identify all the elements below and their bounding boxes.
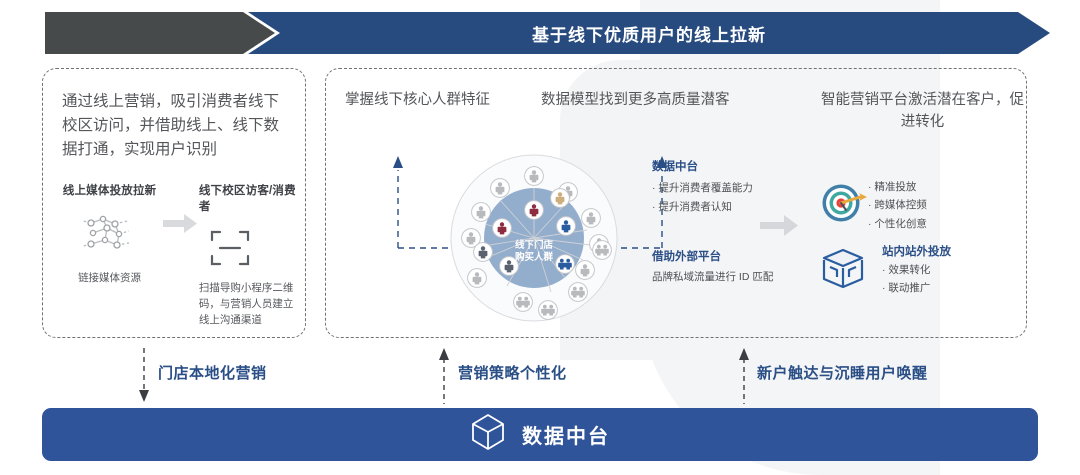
mid-block-external-platform-text: 品牌私域流量进行 ID 匹配: [652, 269, 787, 286]
people-center-label-line1: 线下门店: [515, 239, 554, 251]
bottom-bar-title: 数据中台: [522, 420, 610, 449]
list-item: 效果转化: [882, 261, 951, 279]
diagram-canvas: 基于线下优质用户的线上拉新 通过线上营销，吸引消费者线下校区访问，并借助线上、线…: [0, 0, 1080, 475]
mid-block-data-platform-title: 数据中台: [652, 158, 787, 174]
mid-block-data-platform-list: 提升消费者覆盖能力 提升消费者认知: [652, 179, 787, 218]
left-col-online: 线上媒体投放拉新: [58, 182, 161, 287]
banner-left-block: [45, 12, 275, 54]
up-arrow-icon: [736, 348, 752, 404]
list-item: 精准投放: [868, 178, 927, 196]
list-item: 跨媒体控频: [868, 196, 927, 214]
icon-row-onsite-title: 站内站外投放: [882, 243, 951, 259]
list-item: 提升消费者覆盖能力: [652, 179, 787, 198]
mid-block-external-platform: 借助外部平台 品牌私域流量进行 ID 匹配: [652, 248, 787, 286]
mid-block-data-platform: 数据中台 提升消费者覆盖能力 提升消费者认知: [652, 158, 787, 218]
left-col-offline-caption: 扫描导购小程序二维码，与营销人员建立线上沟通渠道: [199, 281, 298, 328]
left-col-online-heading: 线上媒体投放拉新: [58, 182, 161, 198]
people-network-circle-icon: 线下门店 购买人群: [447, 152, 622, 324]
target-bullseye-icon: [820, 181, 868, 230]
header-banner: 基于线下优质用户的线上拉新: [45, 12, 1050, 54]
mid-heading-1: 掌握线下核心人群特征: [345, 90, 530, 112]
left-panel-lead-text: 通过线上营销，吸引消费者线下校区访问，并借助线上、线下数据打通，实现用户识别: [62, 90, 290, 162]
banner-title: 基于线下优质用户的线上拉新: [248, 12, 1050, 54]
left-col-offline-heading: 线下校区访客/消费者: [199, 182, 298, 214]
people-center-label-line2: 购买人群: [515, 251, 554, 263]
left-col-online-caption: 链接媒体资源: [58, 271, 161, 287]
mid-heading-2: 数据模型找到更多高质量潜客: [541, 90, 741, 112]
mid-heading-3: 智能营销平台激活潜在客户，促进转化: [815, 90, 1030, 134]
open-box-cube-icon: [818, 245, 868, 296]
right-arrow-icon: [760, 223, 798, 240]
right-arrow-icon: [163, 214, 197, 233]
network-nodes-icon: [79, 245, 141, 262]
bottom-label-3: 新户触达与沉睡用户唤醒: [757, 362, 928, 383]
icon-row-onsite-offsite: 站内站外投放 效果转化 联动推广: [818, 243, 951, 298]
list-item: 联动推广: [882, 279, 951, 297]
icon-row-precision-list: 精准投放 跨媒体控频 个性化创意: [868, 178, 927, 233]
list-item: 个性化创意: [868, 215, 927, 233]
qr-scan-icon: [208, 257, 252, 274]
down-arrow-icon: [136, 348, 152, 404]
cube-icon: [470, 413, 506, 456]
mid-block-external-platform-title: 借助外部平台: [652, 248, 787, 264]
bottom-label-1: 门店本地化营销: [158, 362, 267, 383]
left-col-offline: 线下校区访客/消费者: [199, 182, 298, 328]
left-panel-columns: 线上媒体投放拉新: [58, 182, 298, 328]
bottom-bar: 数据中台: [42, 408, 1038, 461]
up-arrow-icon: [436, 348, 452, 404]
bottom-label-2: 营销策略个性化: [458, 362, 567, 383]
icon-row-onsite-content: 站内站外投放 效果转化 联动推广: [882, 243, 951, 298]
mid-flow-arrow: [760, 215, 798, 241]
left-flow-arrow: [161, 182, 199, 233]
icon-row-precision-delivery: 精准投放 跨媒体控频 个性化创意: [820, 178, 927, 233]
icon-row-onsite-list: 效果转化 联动推广: [882, 261, 951, 298]
